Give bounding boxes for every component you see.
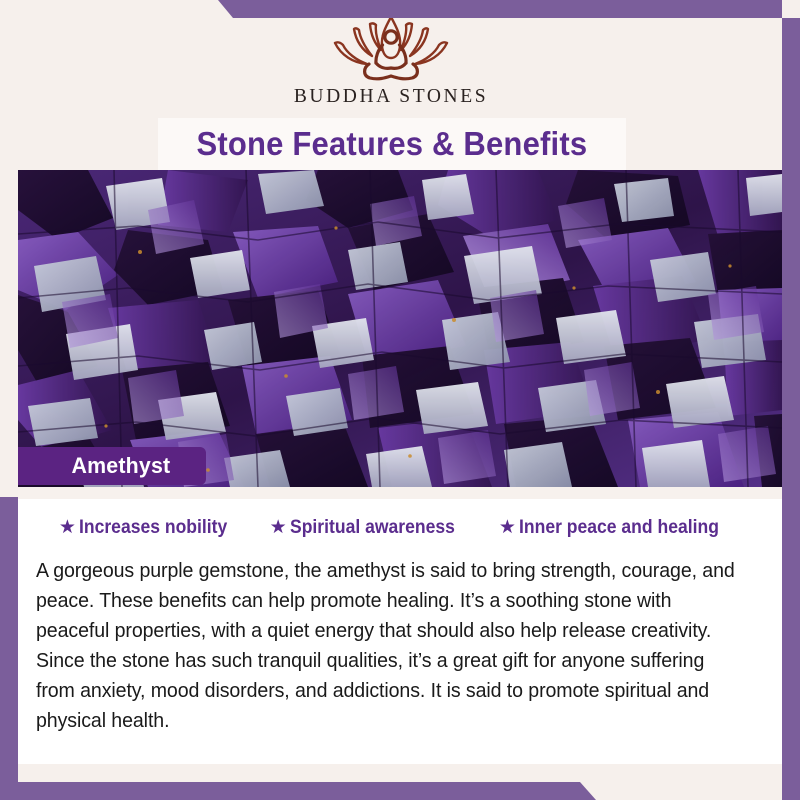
stone-description: A gorgeous purple gemstone, the amethyst… (36, 556, 741, 736)
panel-top-strip (18, 487, 782, 499)
benefit-item-1: ★ Increases nobility (59, 516, 244, 539)
star-icon: ★ (499, 518, 516, 537)
stone-name-label: Amethyst (72, 453, 171, 479)
benefit-label-2: Spiritual awareness (290, 516, 455, 539)
frame-right-gap (782, 0, 800, 18)
brand-wordmark: BUDDHA STONES (294, 86, 488, 108)
section-title-band: Stone Features & Benefits (158, 118, 626, 170)
frame-right-band (782, 0, 800, 800)
page-title: Stone Features & Benefits (197, 125, 588, 163)
benefit-label-1: Increases nobility (79, 516, 227, 539)
benefit-label-3: Inner peace and healing (519, 516, 719, 539)
frame-bottom-band (0, 782, 800, 800)
star-icon: ★ (59, 518, 76, 537)
star-icon: ★ (270, 518, 287, 537)
benefits-list: ★ Increases nobility ★ Spiritual awarene… (18, 516, 782, 539)
brand-header: BUDDHA STONES (0, 0, 782, 120)
stone-feature-poster: BUDDHA STONES Stone Features & Benefits (0, 0, 800, 800)
amethyst-photo (18, 170, 782, 487)
stone-name-banner: Amethyst (18, 447, 206, 485)
lotus-meditation-figure-icon (325, 8, 457, 84)
frame-left-gap (0, 0, 18, 497)
benefit-item-2: ★ Spiritual awareness (270, 516, 473, 539)
benefit-item-3: ★ Inner peace and healing (499, 516, 741, 539)
